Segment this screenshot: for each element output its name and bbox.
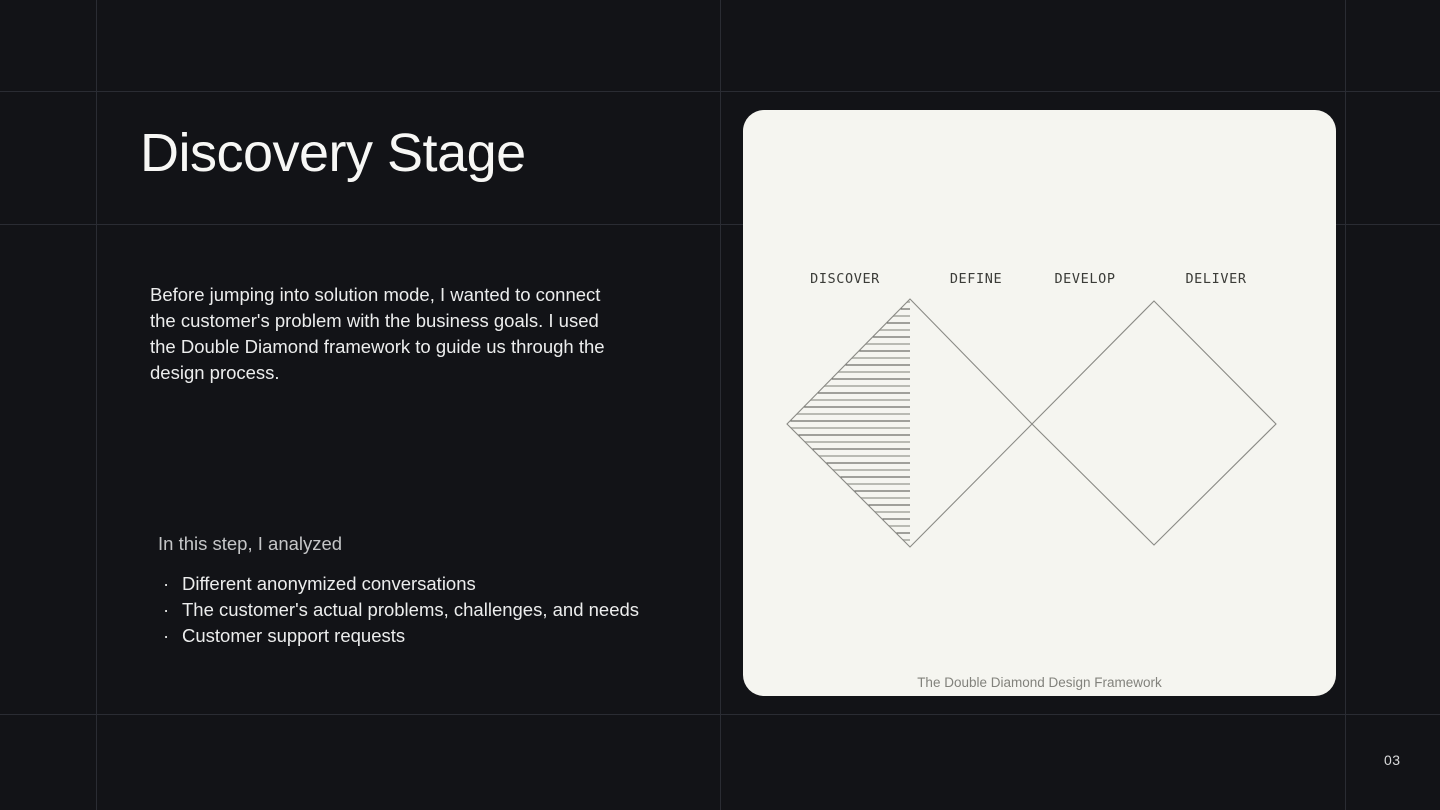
diamond-shape-discover-define xyxy=(787,299,1032,547)
intro-paragraph: Before jumping into solution mode, I wan… xyxy=(150,282,620,386)
grid-line-vertical xyxy=(720,0,721,810)
grid-line-vertical xyxy=(1345,0,1346,810)
grid-line-horizontal xyxy=(0,714,1440,715)
analysis-bullet-list: · Different anonymized conversations · T… xyxy=(160,571,720,649)
list-item-label: Customer support requests xyxy=(182,625,405,646)
page-number: 03 xyxy=(1384,752,1401,768)
double-diamond-diagram xyxy=(743,110,1336,696)
analysis-sub-heading: In this step, I analyzed xyxy=(158,533,342,555)
diamond-shape-develop-deliver xyxy=(1032,301,1276,545)
list-item: · Customer support requests xyxy=(160,623,720,649)
list-item-label: Different anonymized conversations xyxy=(182,573,476,594)
grid-line-horizontal xyxy=(0,91,1440,92)
bullet-marker-icon: · xyxy=(163,597,169,623)
list-item: · Different anonymized conversations xyxy=(160,571,720,597)
page-title: Discovery Stage xyxy=(140,124,526,183)
bullet-marker-icon: · xyxy=(163,571,169,597)
double-diamond-card: DISCOVER DEFINE DEVELOP DELIVER The Doub… xyxy=(743,110,1336,696)
diamond-hatch-fill xyxy=(763,302,918,540)
grid-line-vertical xyxy=(96,0,97,810)
bullet-marker-icon: · xyxy=(163,623,169,649)
list-item: · The customer's actual problems, challe… xyxy=(160,597,720,623)
diagram-caption: The Double Diamond Design Framework xyxy=(743,675,1336,690)
slide: Discovery Stage Before jumping into solu… xyxy=(0,0,1440,810)
list-item-label: The customer's actual problems, challeng… xyxy=(182,599,639,620)
